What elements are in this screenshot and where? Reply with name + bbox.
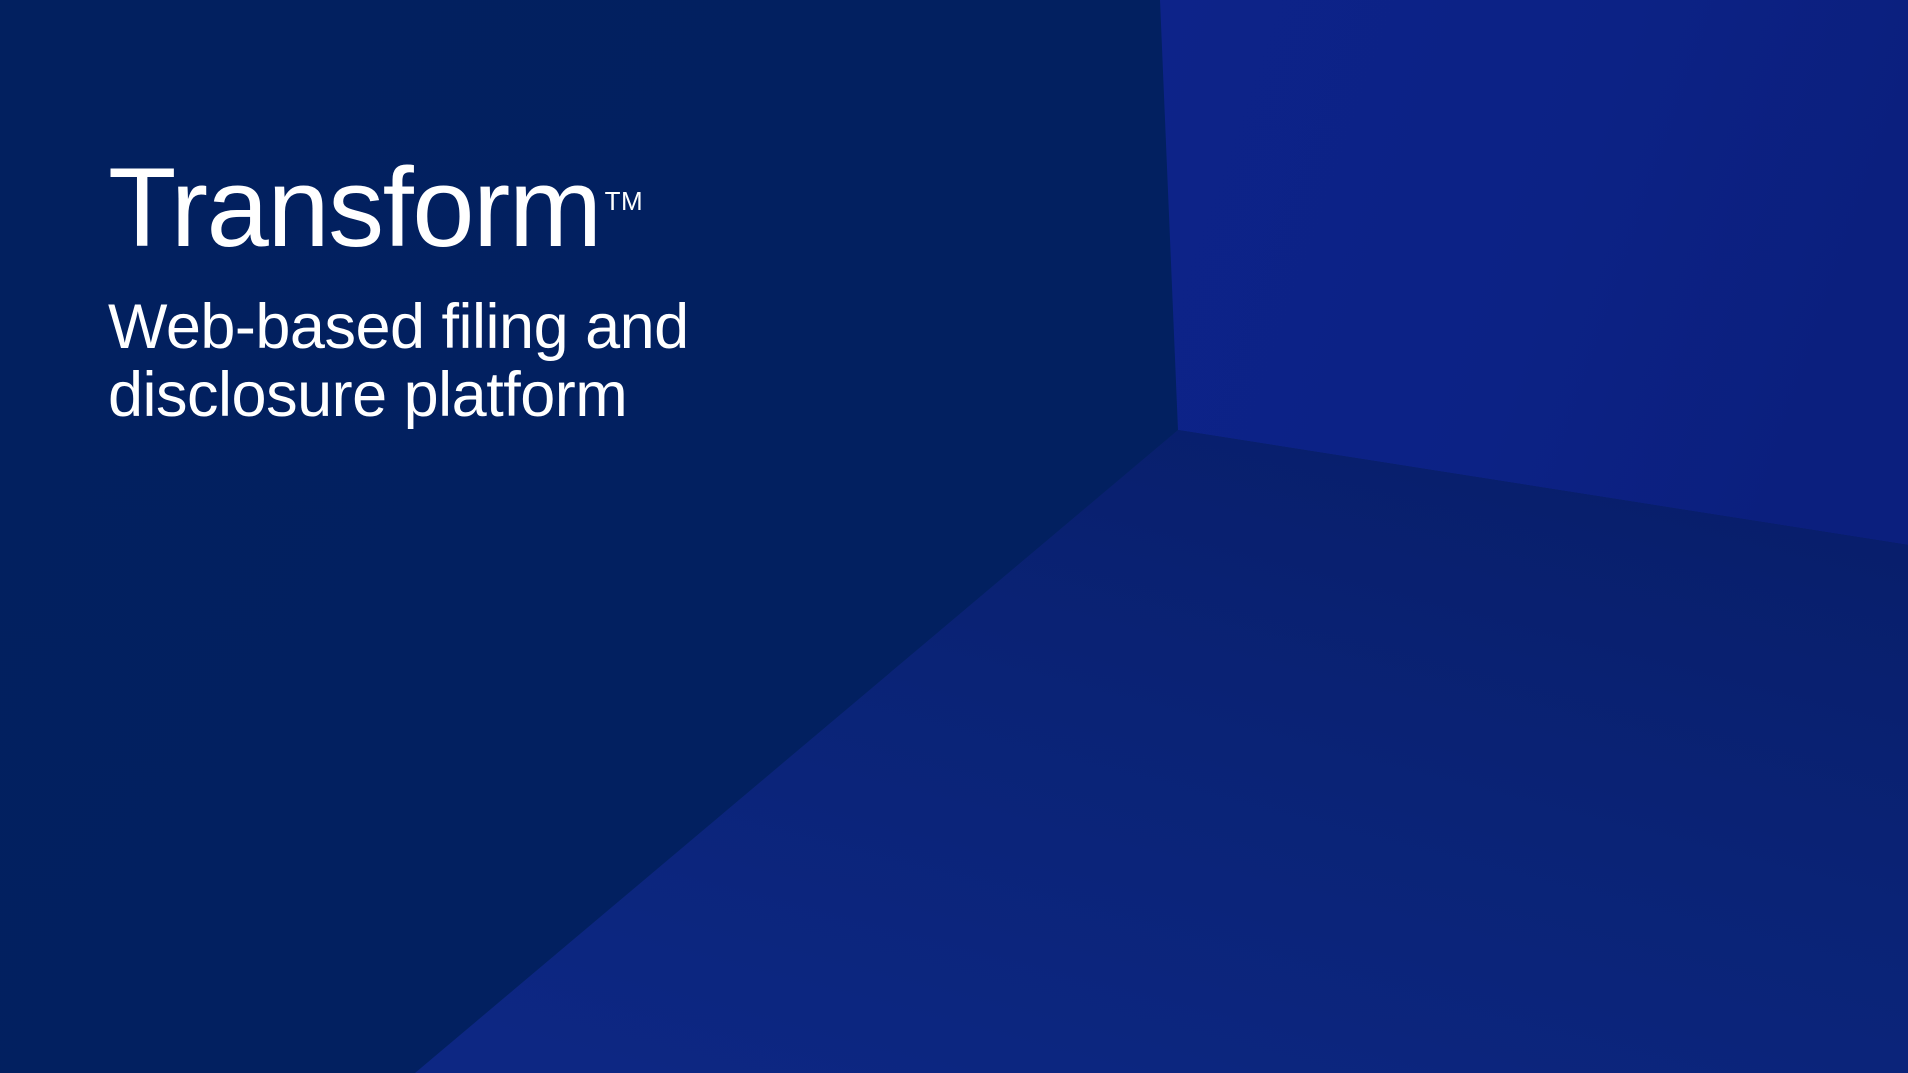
trademark-symbol: TM bbox=[605, 188, 644, 214]
slide-text-block: Transform TM Web-based filing and disclo… bbox=[108, 148, 689, 429]
title-slide: Transform TM Web-based filing and disclo… bbox=[0, 0, 1908, 1073]
page-title: Transform bbox=[108, 148, 601, 269]
page-subtitle: Web-based filing and disclosure platform bbox=[108, 293, 689, 429]
brand-title-row: Transform TM bbox=[108, 148, 689, 269]
page-subtitle-line-1: Web-based filing and bbox=[108, 293, 689, 361]
page-subtitle-line-2: disclosure platform bbox=[108, 361, 689, 429]
